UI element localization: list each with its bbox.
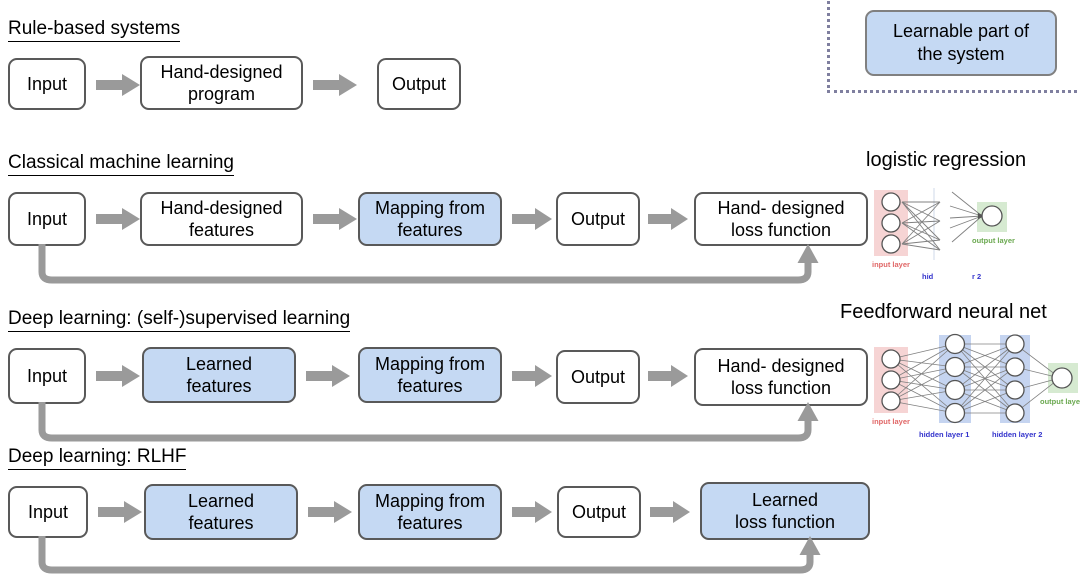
nn-label-input-layer: input layer <box>872 417 910 426</box>
arrow-icon <box>313 208 357 230</box>
arrow-icon <box>648 208 688 230</box>
flow-box-learned-features: Learned features <box>144 484 298 540</box>
feedback-loop <box>30 402 830 448</box>
flow-box-hand-designed-program: Hand-designed program <box>140 56 303 110</box>
figure-feedforward-neural-net: input layer hidden layer 1 hidden layer … <box>872 335 1080 427</box>
legend-learnable-box: Learnable part of the system <box>865 10 1057 76</box>
flow-box-input: Input <box>8 192 86 246</box>
figure-logistic-regression: input layer hid r 2 output layer <box>872 188 1080 278</box>
arrow-icon <box>98 501 142 523</box>
arrow-icon <box>306 365 350 387</box>
diagram-canvas: Learnable part of the system Rule-based … <box>0 0 1080 578</box>
arrow-icon <box>96 365 140 387</box>
flow-box-loss-function: Hand- designed loss function <box>694 192 868 246</box>
feedback-loop <box>30 244 830 290</box>
feedback-loop <box>30 536 830 580</box>
flow-box-input: Input <box>8 348 86 404</box>
nn-label-hidden-layer-1: hidden layer 1 <box>919 430 969 439</box>
row-heading-deep-learning-supervised: Deep learning: (self-)supervised learnin… <box>8 308 350 332</box>
flow-box-input: Input <box>8 486 88 538</box>
flow-box-output: Output <box>556 350 640 404</box>
nn-label-output-layer: output layer <box>972 236 1015 245</box>
flow-box-mapping-from-features: Mapping from features <box>358 192 502 246</box>
flow-box-input: Input <box>8 58 86 110</box>
arrow-icon <box>512 208 552 230</box>
flow-box-output: Output <box>557 486 641 538</box>
arrow-icon <box>650 501 690 523</box>
flow-box-hand-designed-features: Hand-designed features <box>140 192 303 246</box>
row-heading-classical-ml: Classical machine learning <box>8 152 234 176</box>
arrow-icon <box>308 501 352 523</box>
nn-label-input-layer: input layer <box>872 260 910 269</box>
flow-box-loss-function: Hand- designed loss function <box>694 348 868 406</box>
flow-box-output: Output <box>377 58 461 110</box>
nn-label-hidden2-partial: r 2 <box>972 272 981 281</box>
arrow-icon <box>96 208 140 230</box>
figure-title-logistic-regression: logistic regression <box>866 148 1026 172</box>
row-heading-deep-learning-rlhf: Deep learning: RLHF <box>8 446 186 470</box>
nn-label-output-layer: output layer <box>1040 397 1080 406</box>
arrow-icon <box>313 74 357 96</box>
flow-box-learned-loss-function: Learned loss function <box>700 482 870 540</box>
arrow-icon <box>512 501 552 523</box>
nn-label-hidden-partial: hid <box>922 272 933 281</box>
flow-box-learned-features: Learned features <box>142 347 296 403</box>
figure-title-feedforward: Feedforward neural net <box>840 300 1047 324</box>
arrow-icon <box>512 365 552 387</box>
flow-box-mapping-from-features: Mapping from features <box>358 347 502 403</box>
flow-box-output: Output <box>556 192 640 246</box>
row-heading-rule-based: Rule-based systems <box>8 18 180 42</box>
flow-box-mapping-from-features: Mapping from features <box>358 484 502 540</box>
nn-label-hidden-layer-2: hidden layer 2 <box>992 430 1042 439</box>
arrow-icon <box>648 365 688 387</box>
arrow-icon <box>96 74 140 96</box>
